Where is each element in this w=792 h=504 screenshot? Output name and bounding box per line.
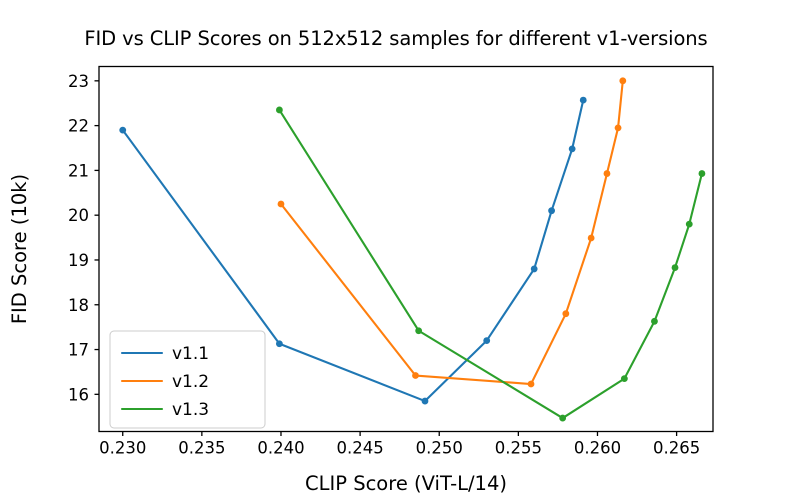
x-tick-label: 0.245 (336, 439, 383, 458)
data-point (276, 340, 283, 347)
legend-label-v1.2: v1.2 (172, 372, 209, 392)
x-tick-label: 0.230 (99, 439, 146, 458)
data-point (531, 266, 538, 273)
y-tick-label: 16 (68, 385, 89, 404)
data-point (699, 170, 706, 177)
data-point (412, 372, 419, 379)
x-tick-label: 0.235 (178, 439, 225, 458)
x-tick-marks (123, 432, 677, 437)
series-v1.2 (278, 77, 627, 387)
data-point (686, 221, 693, 228)
series-line (279, 110, 702, 418)
x-tick-label: 0.265 (653, 439, 700, 458)
plot-area: 0.2300.2350.2400.2450.2500.2550.2600.265… (0, 0, 792, 504)
x-axis-label: CLIP Score (ViT-L/14) (305, 472, 507, 495)
data-point (615, 124, 622, 131)
data-point (580, 97, 587, 104)
y-tick-label: 20 (68, 206, 89, 225)
data-point (278, 201, 285, 208)
data-point (562, 310, 569, 317)
data-point (569, 146, 576, 153)
data-point (119, 127, 126, 134)
y-axis-label: FID Score (10k) (8, 174, 31, 324)
y-tick-label: 21 (68, 161, 89, 180)
y-tick-marks (95, 81, 100, 394)
y-tick-labels: 1617181920212223 (68, 72, 89, 404)
y-tick-label: 22 (68, 117, 89, 136)
y-tick-label: 19 (68, 251, 89, 270)
legend-label-v1.1: v1.1 (172, 344, 209, 364)
data-point (422, 398, 429, 405)
data-point (415, 327, 422, 334)
y-tick-label: 17 (68, 341, 89, 360)
data-point (651, 318, 658, 325)
data-point (483, 337, 490, 344)
x-tick-label: 0.255 (495, 439, 542, 458)
series-v1.3 (276, 107, 705, 422)
x-tick-label: 0.250 (416, 439, 463, 458)
data-point (621, 375, 628, 382)
data-point (672, 264, 679, 271)
data-point (528, 381, 535, 388)
data-point (276, 107, 283, 114)
y-tick-label: 18 (68, 296, 89, 315)
x-tick-labels: 0.2300.2350.2400.2450.2500.2550.2600.265 (99, 439, 700, 458)
x-tick-label: 0.260 (574, 439, 621, 458)
y-tick-label: 23 (68, 72, 89, 91)
series-line (281, 81, 623, 384)
data-point (588, 235, 595, 242)
chart-figure: FID vs CLIP Scores on 512x512 samples fo… (0, 0, 792, 504)
data-point (548, 207, 555, 214)
data-point (619, 77, 626, 84)
chart-legend[interactable]: v1.1v1.2v1.3 (110, 331, 265, 428)
data-point (559, 415, 566, 422)
legend-label-v1.3: v1.3 (172, 400, 209, 420)
data-point (604, 170, 611, 177)
x-tick-label: 0.240 (257, 439, 304, 458)
